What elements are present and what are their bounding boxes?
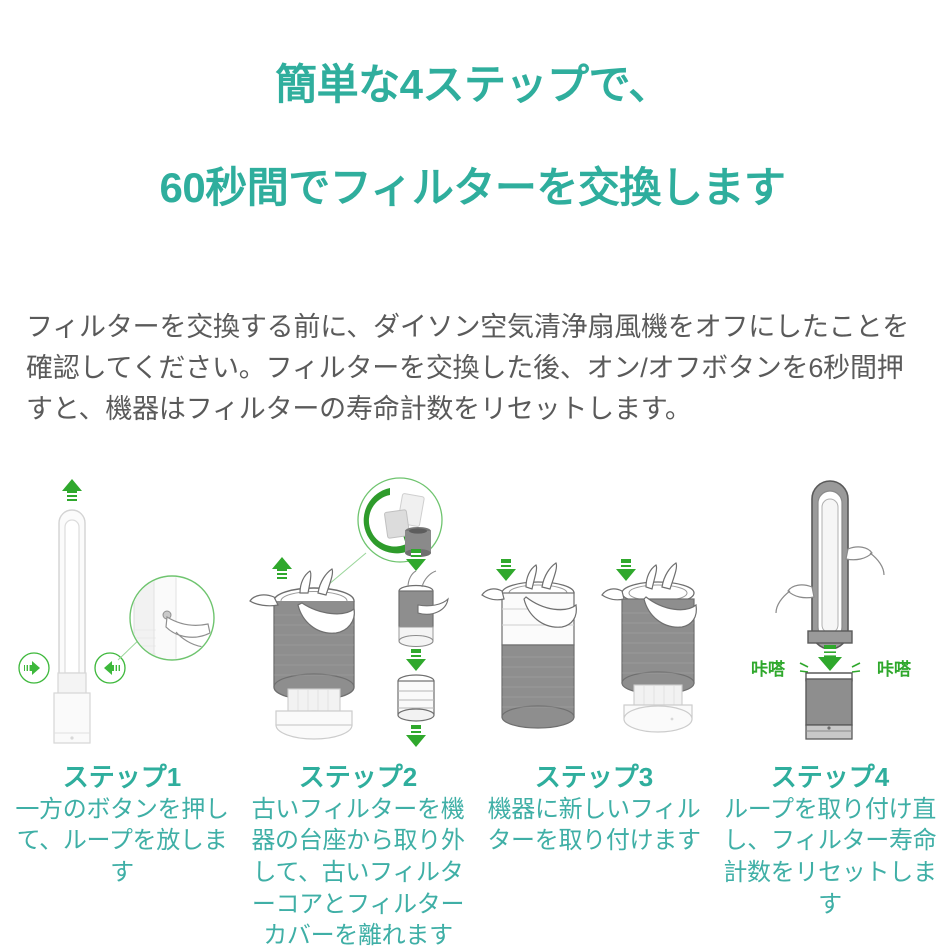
tower-fan-base — [54, 673, 90, 743]
filter-cylinder-large — [274, 588, 354, 700]
fan-body-base — [806, 673, 852, 739]
magnifier-detail-circle-icon — [130, 575, 214, 667]
click-spark-left-icon — [800, 663, 808, 672]
click-sound-right-label: 咔嗒 — [877, 659, 912, 679]
down-arrow-icon — [496, 559, 516, 581]
press-left-button-badge-icon — [19, 653, 49, 683]
filter-core-with-hand — [399, 571, 448, 647]
step-2-title: ステップ2 — [299, 761, 417, 794]
step-1-title: ステップ1 — [63, 761, 181, 794]
step-3: ステップ3 機器に新しいフィルターを取り付けます — [476, 475, 712, 857]
click-spark-right-icon — [852, 663, 860, 672]
down-arrow-icon — [406, 649, 426, 671]
tower-fan-loop — [59, 510, 85, 675]
step-4: 咔嗒 咔嗒 ステップ4 ループを取り付け直し、フィルター寿命計数をリセットします — [712, 475, 945, 920]
down-arrow-icon — [616, 559, 636, 581]
step-4-title: ステップ4 — [771, 761, 889, 794]
page-title-line-2: 60秒間でフィルターを交換します — [10, 162, 935, 213]
down-arrow-icon — [406, 725, 426, 747]
up-arrow-icon — [62, 479, 82, 501]
step-3-description: 機器に新しいフィルターを取り付けます — [476, 794, 712, 857]
intro-paragraph: フィルターを交換する前に、ダイソン空気清浄扇風機をオフにしたことを確認してくださ… — [0, 293, 945, 430]
step-1-illustration — [4, 475, 240, 757]
tower-fan-loop — [808, 481, 852, 649]
step-4-description: ループを取り付け直し、フィルター寿命計数をリセットします — [712, 794, 945, 921]
filter-assembly-right — [622, 582, 694, 694]
step-1: ステップ1 一方のボタンを押して、ループを放します — [4, 475, 240, 889]
page-title: 簡単な4ステップで、 60秒間でフィルターを交換します — [0, 0, 945, 266]
click-sound-left-label: 咔嗒 — [751, 659, 786, 679]
down-arrow-icon — [818, 645, 842, 671]
step-3-title: ステップ3 — [535, 761, 653, 794]
step-2: ステップ2 古いフィルターを機器の台座から取り外して、古いフィルターコアとフィル… — [240, 475, 476, 952]
steps-row: ステップ1 一方のボタンを押して、ループを放します — [0, 457, 945, 952]
step-2-description: 古いフィルターを機器の台座から取り外して、古いフィルターコアとフィルターカバーを… — [240, 794, 476, 952]
rotate-arrow-detail-circle-icon — [358, 478, 442, 562]
step-2-illustration — [240, 475, 476, 757]
detail-connector-line — [328, 553, 366, 585]
step-4-illustration: 咔嗒 咔嗒 — [712, 475, 945, 757]
fan-base — [624, 685, 692, 732]
up-arrow-icon — [272, 557, 292, 579]
step-1-description: 一方のボタンを押して、ループを放します — [4, 794, 240, 889]
step-3-illustration — [476, 475, 712, 757]
filter-cover-part — [398, 675, 434, 721]
page-title-line-1: 簡単な4ステップで、 — [10, 59, 935, 110]
